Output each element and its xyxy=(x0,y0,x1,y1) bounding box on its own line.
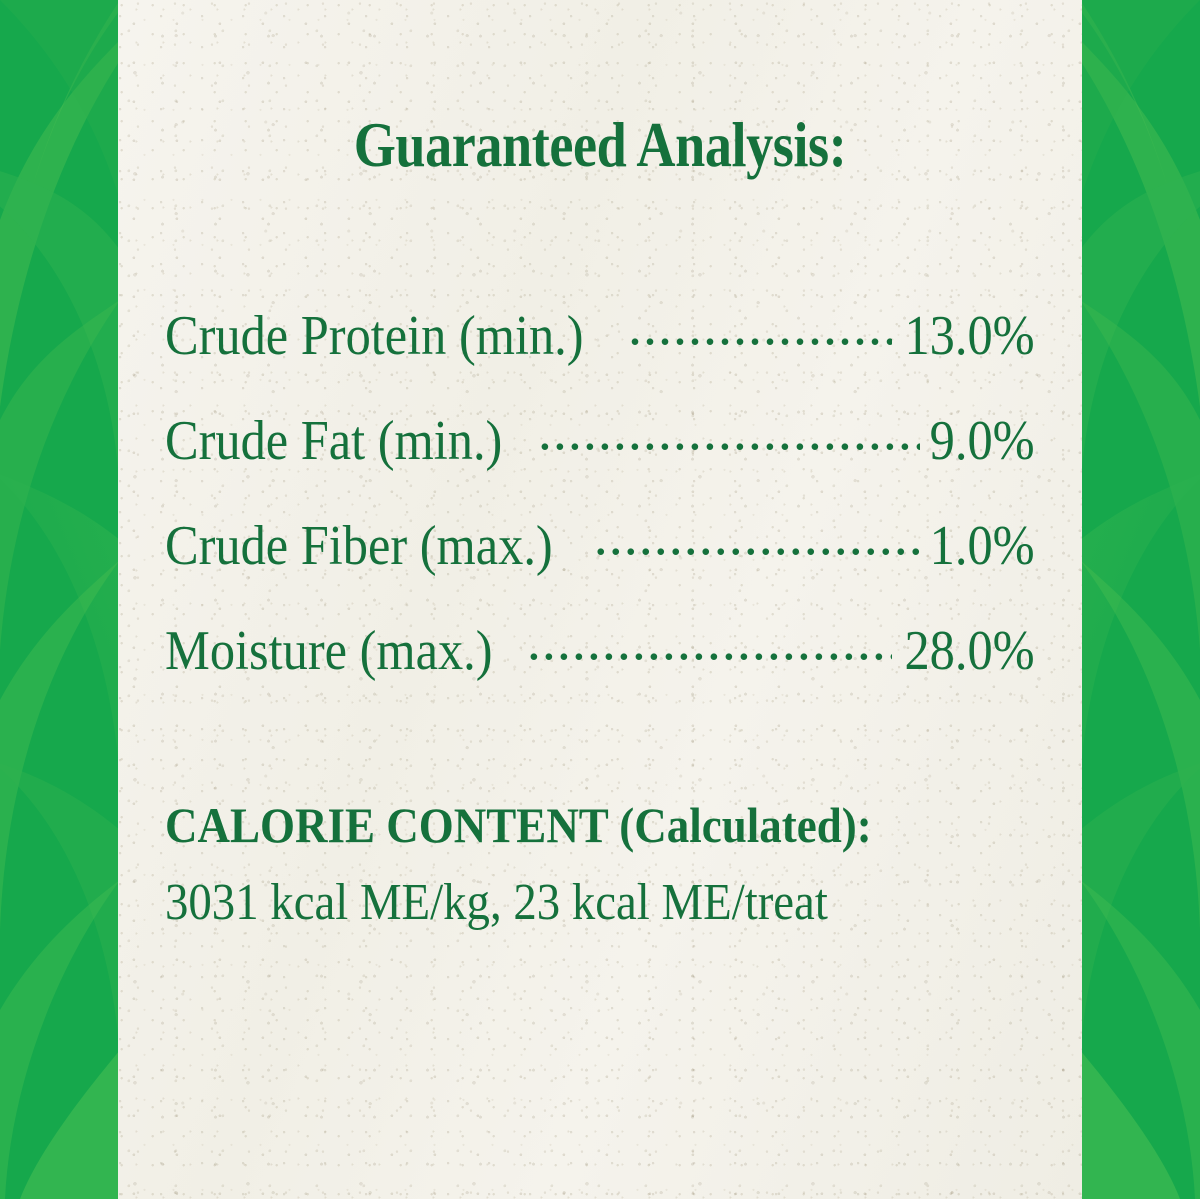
leader-dots xyxy=(594,508,921,564)
analysis-row-crude-protein: Crude Protein (min.) 13.0% xyxy=(165,298,1035,403)
nutrient-label: Crude Protein (min.) xyxy=(165,308,584,364)
nutrient-value: 1.0% xyxy=(930,518,1035,574)
leader-dots xyxy=(628,298,892,354)
leaf-pattern-icon xyxy=(0,0,120,1199)
leader-dots xyxy=(538,403,921,459)
right-green-band xyxy=(1080,0,1200,1199)
guaranteed-analysis-panel: Guaranteed Analysis: Crude Protein (min.… xyxy=(0,0,1200,1199)
calorie-content-value: 3031 kcal ME/kg, 23 kcal ME/treat xyxy=(165,877,948,929)
leader-dots xyxy=(527,613,892,669)
leaf-pattern-icon xyxy=(1080,0,1200,1199)
guaranteed-analysis-list: Crude Protein (min.) 13.0% Crude Fat (mi… xyxy=(165,298,1035,718)
nutrient-value: 28.0% xyxy=(905,623,1035,679)
nutrient-value: 9.0% xyxy=(930,413,1035,469)
analysis-row-crude-fat: Crude Fat (min.) 9.0% xyxy=(165,403,1035,508)
calorie-content-heading: CALORIE CONTENT (Calculated): xyxy=(165,800,948,850)
label-content: Guaranteed Analysis: Crude Protein (min.… xyxy=(118,0,1082,1199)
left-green-band xyxy=(0,0,120,1199)
analysis-row-moisture: Moisture (max.) 28.0% xyxy=(165,613,1035,718)
page-title: Guaranteed Analysis: xyxy=(185,114,1014,177)
nutrient-label: Crude Fat (min.) xyxy=(165,413,502,469)
analysis-row-crude-fiber: Crude Fiber (max.) 1.0% xyxy=(165,508,1035,613)
calorie-content-block: CALORIE CONTENT (Calculated): 3031 kcal … xyxy=(165,800,1035,929)
nutrient-label: Crude Fiber (max.) xyxy=(165,518,553,574)
nutrient-label: Moisture (max.) xyxy=(165,623,493,679)
nutrient-value: 13.0% xyxy=(905,308,1035,364)
